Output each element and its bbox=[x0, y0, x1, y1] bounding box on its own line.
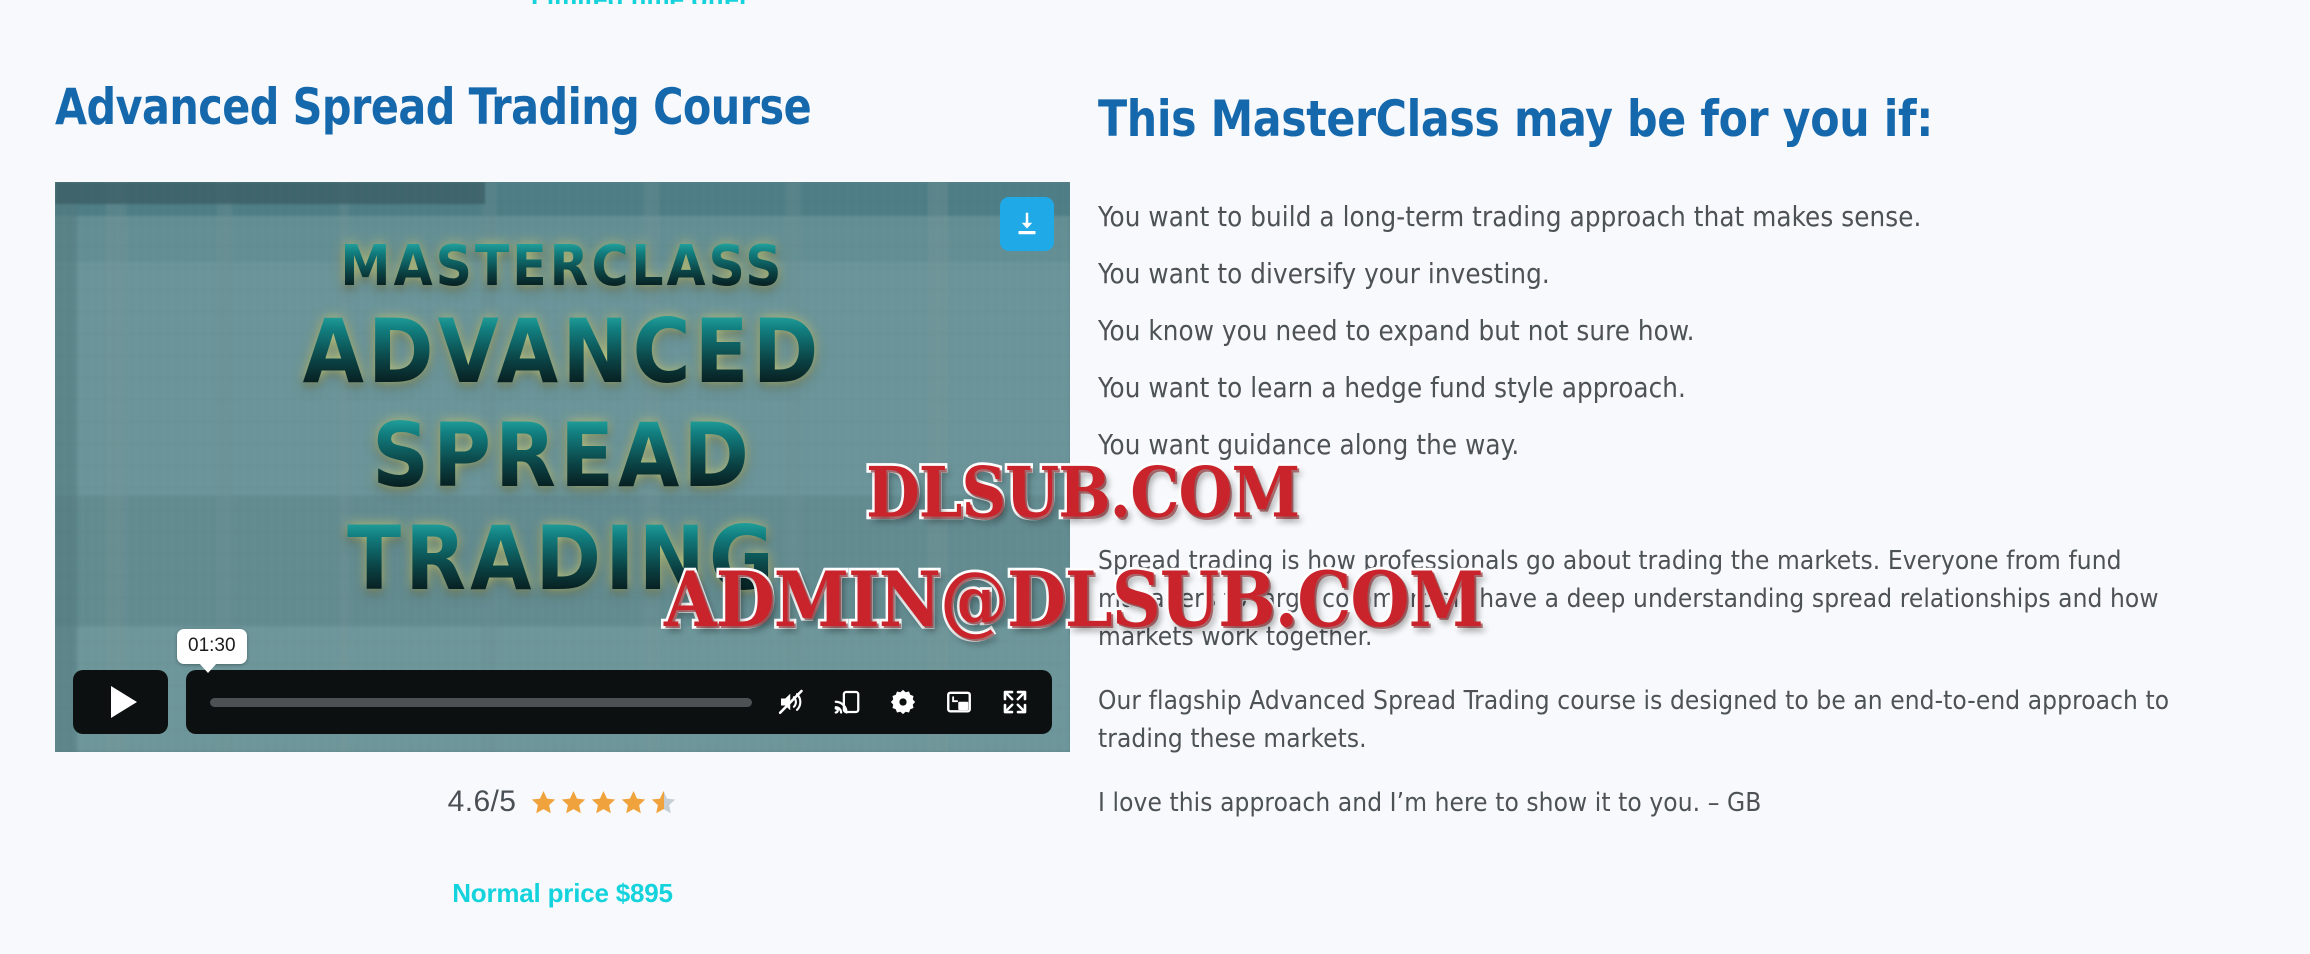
star-full-icon bbox=[590, 789, 617, 816]
thumbnail-line-masterclass: MASTERCLASS bbox=[55, 234, 1070, 299]
star-full-icon bbox=[560, 789, 587, 816]
download-button[interactable] bbox=[1000, 197, 1054, 251]
picture-in-picture-icon bbox=[944, 687, 974, 717]
rating-score: 4.6/5 bbox=[448, 785, 517, 819]
paragraph: Our flagship Advanced Spread Trading cou… bbox=[1098, 682, 2208, 758]
play-button[interactable] bbox=[73, 670, 168, 734]
thumbnail-line-spread: SPREAD bbox=[55, 404, 1070, 507]
fullscreen-icon bbox=[1000, 687, 1030, 717]
list-item: You know you need to expand but not sure… bbox=[1098, 314, 2225, 347]
picture-in-picture-button[interactable] bbox=[942, 685, 976, 719]
video-controls bbox=[73, 670, 1052, 734]
list-item: You want guidance along the way. bbox=[1098, 428, 2225, 461]
thumbnail-line-advanced: ADVANCED bbox=[55, 300, 1070, 403]
mute-icon bbox=[776, 687, 806, 717]
star-half-icon bbox=[650, 789, 677, 816]
thumbnail-line-trading: TRADING bbox=[55, 507, 1070, 610]
play-icon bbox=[111, 686, 137, 718]
video-progress-scrubber[interactable] bbox=[210, 698, 752, 707]
star-full-icon bbox=[530, 789, 557, 816]
right-column: This MasterClass may be for you if: You … bbox=[1098, 0, 2278, 954]
download-icon bbox=[1012, 209, 1042, 239]
rating-stars bbox=[530, 789, 677, 816]
paragraph: Spread trading is how professionals go a… bbox=[1098, 542, 2208, 656]
masterclass-heading: This MasterClass may be for you if: bbox=[1098, 90, 1933, 148]
settings-button[interactable] bbox=[886, 685, 920, 719]
bullet-list: You want to build a long-term trading ap… bbox=[1098, 200, 2248, 485]
left-column: Advanced Spread Trading Course MASTERCLA… bbox=[0, 0, 1078, 954]
price-label: Normal price $895 bbox=[55, 878, 1070, 909]
course-title: Advanced Spread Trading Course bbox=[55, 78, 811, 136]
description-paragraphs: Spread trading is how professionals go a… bbox=[1098, 542, 2208, 848]
settings-gear-icon bbox=[888, 687, 918, 717]
list-item: You want to diversify your investing. bbox=[1098, 257, 2225, 290]
video-time-tooltip: 01:30 bbox=[177, 629, 247, 664]
cast-icon bbox=[832, 687, 862, 717]
paragraph: I love this approach and I’m here to sho… bbox=[1098, 784, 2208, 822]
star-full-icon bbox=[620, 789, 647, 816]
list-item: You want to learn a hedge fund style app… bbox=[1098, 371, 2225, 404]
fullscreen-button[interactable] bbox=[998, 685, 1032, 719]
cast-button[interactable] bbox=[830, 685, 864, 719]
video-controls-bar bbox=[186, 670, 1052, 734]
video-thumbnail-toolbar-strip bbox=[55, 182, 485, 204]
page-root: Limited time offer Advanced Spread Tradi… bbox=[0, 0, 2310, 954]
rating: 4.6/5 bbox=[55, 785, 1070, 819]
mute-button[interactable] bbox=[774, 685, 808, 719]
video-player[interactable]: MASTERCLASS ADVANCED SPREAD TRADING 01:3… bbox=[55, 182, 1070, 752]
list-item: You want to build a long-term trading ap… bbox=[1098, 200, 2225, 233]
